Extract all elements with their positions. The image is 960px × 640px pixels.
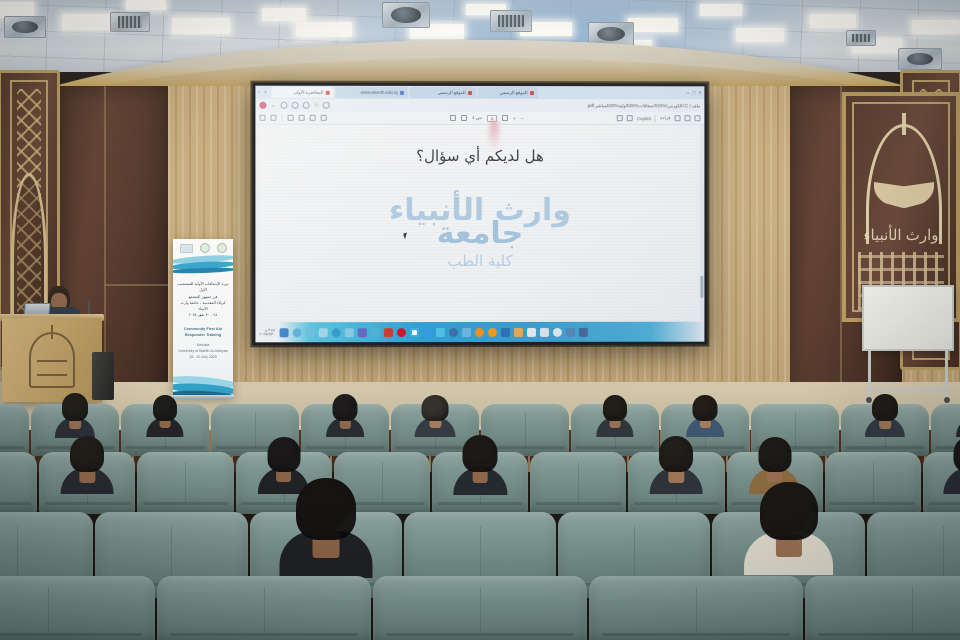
ac-vent-icon bbox=[898, 48, 942, 70]
toolbar-divider bbox=[282, 114, 283, 121]
outlook-icon[interactable] bbox=[383, 328, 392, 337]
read-aloud-label[interactable]: قراءة bbox=[660, 115, 671, 121]
app2-icon[interactable] bbox=[462, 328, 471, 337]
auditorium-seat bbox=[628, 452, 724, 514]
auditorium-seat bbox=[805, 576, 960, 640]
settings-icon[interactable] bbox=[449, 328, 458, 337]
banner-base bbox=[171, 395, 235, 399]
org-logo-icon bbox=[180, 244, 193, 253]
pdf-page-canvas: هل لديكم أي سؤال؟ وارث الأنبياء جامعة كل… bbox=[259, 125, 699, 321]
mouse-cursor-icon bbox=[403, 232, 409, 239]
seat-crease bbox=[795, 412, 796, 446]
store-icon[interactable] bbox=[565, 327, 574, 336]
auditorium-seat bbox=[825, 452, 921, 514]
app-icon[interactable] bbox=[344, 328, 353, 337]
seat-crease bbox=[480, 526, 481, 583]
audience-member bbox=[422, 395, 449, 421]
seat-crease bbox=[48, 587, 49, 633]
favorite-icon[interactable]: ☆ bbox=[314, 102, 319, 109]
seat-crease bbox=[912, 587, 913, 633]
highlight-icon[interactable] bbox=[310, 115, 316, 121]
zoom-out-button[interactable]: – bbox=[521, 116, 524, 121]
telegram-icon[interactable] bbox=[409, 328, 418, 337]
tab-favicon-icon bbox=[400, 90, 404, 94]
browser-tab[interactable]: www.wareth.edu.iq bbox=[335, 87, 407, 98]
audience-member-shoulders bbox=[944, 467, 960, 494]
photos-icon[interactable] bbox=[514, 327, 523, 336]
emblem-arabic-text: وارث الأنبياء bbox=[856, 218, 946, 252]
banner-english-block: Community First Aid Responder Training K… bbox=[174, 319, 231, 361]
scrollbar-thumb[interactable] bbox=[700, 276, 703, 298]
browser-tab[interactable]: الموقع الرسمي bbox=[478, 87, 538, 98]
search-icon[interactable] bbox=[292, 328, 301, 337]
audience-member-head bbox=[760, 482, 818, 540]
seat-crease bbox=[480, 587, 481, 633]
close-button[interactable]: × bbox=[699, 90, 702, 96]
lecture-hall-photo: وارث الأنبياء ‹ + المحاضرة الأولى www.wa… bbox=[0, 0, 960, 640]
explorer-icon[interactable] bbox=[318, 328, 327, 337]
tab-label: الموقع الرسمي bbox=[438, 89, 466, 95]
edge-logo-icon bbox=[259, 102, 266, 109]
window-controls[interactable]: – □ × bbox=[687, 90, 702, 96]
seat-crease bbox=[17, 526, 18, 583]
auditorium-seat bbox=[157, 576, 371, 640]
audience-member bbox=[758, 437, 791, 472]
rollup-banner: دورة الإسعافات الأولية للمستجيب الأول في… bbox=[173, 239, 233, 397]
partner-logo-icon bbox=[217, 243, 227, 253]
auditorium-seat bbox=[301, 404, 389, 456]
widgets-icon[interactable] bbox=[305, 328, 314, 337]
seat-crease bbox=[255, 412, 256, 446]
audience-member-head bbox=[70, 436, 104, 472]
seat-crease bbox=[264, 587, 265, 633]
maximize-button[interactable]: □ bbox=[693, 90, 696, 96]
word-icon[interactable] bbox=[578, 327, 587, 336]
auditorium-seat bbox=[923, 452, 960, 514]
tab-favicon-icon bbox=[468, 90, 472, 94]
home-icon[interactable] bbox=[292, 102, 299, 109]
browser-tab[interactable]: المحاضرة الأولى bbox=[271, 87, 333, 98]
audience-member-head bbox=[267, 437, 300, 472]
projected-desktop: ‹ + المحاضرة الأولى www.wareth.edu.iq ال… bbox=[255, 86, 704, 343]
audience-member bbox=[463, 435, 498, 472]
search-icon[interactable] bbox=[321, 115, 327, 121]
pinterest-icon[interactable] bbox=[396, 328, 405, 337]
ceiling-light bbox=[736, 28, 784, 42]
audience-member-head bbox=[872, 394, 898, 421]
chat-icon[interactable] bbox=[370, 328, 379, 337]
audience-member-head bbox=[603, 395, 627, 421]
auditorium-seat bbox=[39, 452, 135, 514]
banner-arabic-block: دورة الإسعافات الأولية للمستجيب الأول في… bbox=[173, 276, 233, 319]
auditorium-seat bbox=[0, 452, 37, 514]
refresh-icon[interactable] bbox=[281, 102, 288, 109]
university-logo: وارث الأنبياء جامعة كلية الطب bbox=[380, 168, 580, 298]
audience-member bbox=[872, 394, 898, 421]
banner-arabic-line: كربلاء المقدسة - جامعة وارث الأنبياء bbox=[177, 300, 229, 313]
podium-crest-icon bbox=[29, 332, 75, 388]
auditorium-seat bbox=[137, 452, 233, 514]
whiteboard bbox=[862, 285, 954, 351]
tab-label: www.wareth.edu.iq bbox=[361, 90, 398, 95]
palm-logo-icon bbox=[200, 243, 210, 253]
browser-navbar: ← ☆ ملف | C:/الكورس/%20الاسعافات%20الاول… bbox=[255, 99, 704, 113]
twitter-icon[interactable] bbox=[422, 328, 431, 337]
banner-wave-graphic bbox=[173, 256, 233, 276]
projector-light-artifact bbox=[489, 119, 499, 151]
seat-crease bbox=[525, 412, 526, 446]
tab-scroll-left-icon[interactable]: ‹ bbox=[258, 89, 260, 95]
banner-dates: 28 - 30 July 2025 bbox=[178, 354, 227, 360]
rotate-icon[interactable] bbox=[461, 115, 467, 121]
seat-crease bbox=[634, 526, 635, 583]
banner-bottom-wave bbox=[173, 375, 233, 397]
auditorium-seat bbox=[841, 404, 929, 456]
auditorium-seat bbox=[0, 576, 155, 640]
seat-crease bbox=[943, 526, 944, 583]
copy-icon[interactable] bbox=[450, 115, 456, 121]
seat-crease bbox=[185, 462, 186, 503]
audience-member bbox=[267, 437, 300, 472]
audience-member-head bbox=[659, 436, 693, 472]
banner-arabic-line: دورة الإسعافات الأولية للمستجيب الأول bbox=[177, 281, 229, 294]
arch-motif bbox=[11, 173, 47, 323]
draw-icon[interactable] bbox=[288, 115, 294, 121]
ac-vent-icon bbox=[4, 16, 46, 38]
ceiling-light bbox=[700, 4, 742, 16]
new-tab-button[interactable]: + bbox=[262, 89, 269, 95]
audience-member bbox=[659, 436, 693, 472]
pan-icon[interactable] bbox=[259, 115, 265, 121]
tab-favicon-icon bbox=[325, 90, 329, 94]
audience-member bbox=[760, 482, 818, 540]
auditorium-seat bbox=[530, 452, 626, 514]
print-icon[interactable] bbox=[685, 115, 691, 121]
audience-member-head bbox=[758, 437, 791, 472]
start-icon[interactable] bbox=[279, 328, 288, 337]
ceiling-light bbox=[262, 8, 306, 21]
audience-member-head bbox=[333, 394, 358, 421]
audience-member bbox=[70, 436, 104, 472]
ac-vent-icon bbox=[110, 12, 150, 32]
auditorium-seat bbox=[571, 404, 659, 456]
toolbar-divider bbox=[655, 115, 656, 122]
audience-member bbox=[953, 436, 960, 472]
row-foreground bbox=[0, 576, 960, 640]
audience-member-head bbox=[953, 436, 960, 472]
seat-crease bbox=[382, 462, 383, 503]
audience-member-head bbox=[153, 395, 177, 421]
banner-title-line-1: Community First Aid bbox=[178, 326, 227, 333]
taskbar-clock[interactable]: ٣:٤٥ م ٢٠٢٥/٧/٣٠ bbox=[259, 328, 275, 337]
seat-crease bbox=[171, 526, 172, 583]
tab-label: المحاضرة الأولى bbox=[293, 89, 323, 95]
fit-page-icon[interactable] bbox=[270, 115, 276, 121]
folder-icon[interactable] bbox=[539, 327, 548, 336]
ac-vent-icon bbox=[382, 2, 430, 28]
audience-member bbox=[153, 395, 177, 421]
text-style-icon[interactable] bbox=[627, 115, 633, 121]
audience-member bbox=[62, 393, 88, 421]
caster-wheel-icon bbox=[944, 397, 950, 403]
audience-member bbox=[603, 395, 627, 421]
ceiling-light bbox=[628, 18, 678, 32]
audience-member-head bbox=[463, 435, 498, 472]
tab-favicon-icon bbox=[530, 91, 534, 95]
more-options-icon[interactable] bbox=[694, 115, 700, 121]
teams-icon[interactable] bbox=[357, 328, 366, 337]
ceiling-light bbox=[126, 0, 166, 10]
audience-member bbox=[333, 394, 358, 421]
erase-icon[interactable] bbox=[299, 115, 305, 121]
pdf-viewer-toolbar: من 1 1 + – قراءة Copilot bbox=[255, 112, 704, 125]
minimize-button[interactable]: – bbox=[687, 90, 690, 96]
firefox-icon[interactable] bbox=[488, 327, 497, 336]
fit-width-icon[interactable] bbox=[502, 115, 508, 121]
auditorium-seat bbox=[0, 404, 29, 456]
audience-member-shoulders bbox=[956, 417, 960, 437]
podium bbox=[2, 318, 102, 402]
tab-label: الموقع الرسمي bbox=[500, 90, 528, 96]
auditorium-seat bbox=[589, 576, 803, 640]
address-bar[interactable]: ملف | C:/الكورس/%20الاسعافات%20الاولية%2… bbox=[588, 103, 701, 109]
browser-tab[interactable]: الموقع الرسمي bbox=[410, 87, 476, 98]
logo-line-2: جامعة bbox=[437, 219, 524, 248]
loudspeaker bbox=[92, 352, 114, 400]
highlighter-icon[interactable] bbox=[617, 115, 623, 121]
back-icon[interactable]: ← bbox=[270, 102, 276, 108]
profile-icon[interactable] bbox=[323, 102, 330, 109]
audience-member bbox=[296, 478, 356, 540]
browser-titlebar: ‹ + المحاضرة الأولى www.wareth.edu.iq ال… bbox=[255, 86, 704, 100]
slide-question-text: هل لديكم أي سؤال؟ bbox=[416, 146, 544, 164]
pdf-toolbar-right-group: قراءة Copilot bbox=[617, 115, 701, 122]
ceiling-light bbox=[62, 14, 114, 30]
shield-icon[interactable] bbox=[303, 102, 310, 109]
auditorium-seat bbox=[373, 576, 587, 640]
banner-title-line-2: Responder Training bbox=[178, 332, 227, 339]
audience-member-head bbox=[62, 393, 88, 421]
logo-subtitle: كلية الطب bbox=[447, 252, 512, 270]
share-icon[interactable] bbox=[435, 328, 444, 337]
seat-crease bbox=[696, 587, 697, 633]
auditorium-seat bbox=[121, 404, 209, 456]
projection-screen-frame: ‹ + المحاضرة الأولى www.wareth.edu.iq ال… bbox=[252, 83, 707, 346]
ceiling-light bbox=[810, 14, 856, 28]
ac-vent-icon bbox=[846, 30, 876, 46]
vlc-icon[interactable] bbox=[475, 327, 484, 336]
ceiling-light bbox=[296, 22, 352, 37]
auditorium-seat bbox=[432, 452, 528, 514]
edge-icon[interactable] bbox=[331, 328, 340, 337]
magnify-icon[interactable] bbox=[552, 327, 561, 336]
audience-member-head bbox=[693, 395, 718, 421]
ceiling-light bbox=[172, 18, 230, 34]
seat-crease bbox=[578, 462, 579, 503]
banner-logos bbox=[173, 239, 233, 255]
audience-member-head bbox=[422, 395, 449, 421]
camera-icon[interactable] bbox=[526, 327, 535, 336]
audience-member bbox=[693, 395, 718, 421]
windows-taskbar: ٣:٤٥ م ٢٠٢٥/٧/٣٠ bbox=[255, 322, 704, 343]
podium-book-icon bbox=[37, 360, 67, 376]
save-icon[interactable] bbox=[675, 115, 681, 121]
seat-crease bbox=[873, 462, 874, 503]
page-total-label: من 1 bbox=[472, 115, 482, 121]
copilot-button[interactable]: Copilot bbox=[637, 116, 651, 121]
zoom-in-button[interactable]: + bbox=[513, 116, 516, 121]
ac-vent-icon bbox=[490, 10, 532, 32]
onedrive-icon[interactable] bbox=[501, 327, 510, 336]
audience-member-head bbox=[296, 478, 356, 540]
ceiling-light bbox=[912, 20, 960, 34]
